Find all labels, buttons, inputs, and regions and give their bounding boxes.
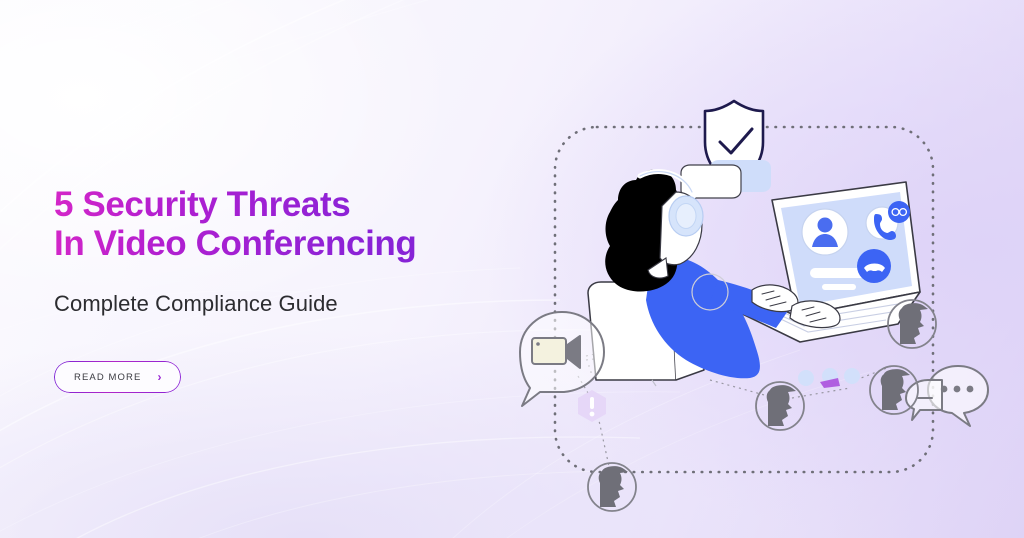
hangup-icon [857,249,891,283]
chevron-right-icon: › [157,371,161,383]
banner-text-column: 5 Security Threats In Video Conferencing… [54,186,524,393]
page-title: 5 Security Threats In Video Conferencing [54,186,524,263]
warning-hexagon-icon [578,390,606,422]
chat-dots-bubble-icon [906,366,988,426]
page-subtitle: Complete Compliance Guide [54,291,524,317]
read-more-label: READ MORE [74,372,141,383]
avatar-icon [802,209,848,255]
glasses-badge-icon [888,201,910,223]
hacker-icon-4 [588,463,636,511]
read-more-button[interactable]: READ MORE › [54,361,181,393]
promo-banner: 5 Security Threats In Video Conferencing… [0,0,1024,538]
desk-dots [798,368,860,388]
hacker-icon-1 [756,382,804,430]
hero-illustration [500,80,1024,538]
